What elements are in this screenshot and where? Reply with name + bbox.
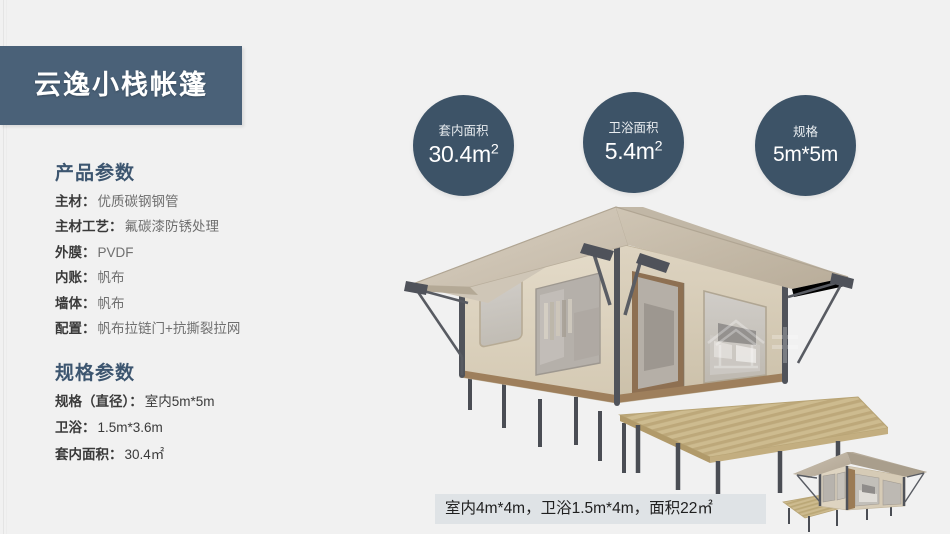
spec-value: 帆布拉链门+抗撕裂拉网 (98, 321, 241, 336)
badge-label: 规格 (793, 126, 818, 139)
spec-unit: ㎡ (151, 447, 165, 462)
spec-row: 墙体：帆布 (55, 297, 355, 311)
product-params-heading: 产品参数 (55, 163, 355, 186)
product-params-group: 产品参数 主材：优质碳钢钢管 主材工艺：氟碳漆防锈处理 外膜：PVDF 内账：帆… (55, 163, 355, 336)
badge-value-superscript: 2 (655, 139, 663, 155)
stat-badge-dimensions: 规格 5m*5m (755, 95, 856, 196)
spec-row: 主材工艺：氟碳漆防锈处理 (55, 220, 355, 234)
badge-value-text: 5m*5m (773, 143, 838, 166)
spec-row: 套内面积：30.4㎡ (55, 448, 355, 462)
spec-params-heading: 规格参数 (55, 363, 355, 386)
spec-value: 帆布 (98, 270, 125, 285)
spec-label: 墙体： (55, 296, 96, 311)
spec-label: 主材工艺： (55, 219, 123, 234)
tent-thumbnail-svg (775, 444, 943, 534)
badge-value-text: 30.4m (428, 141, 490, 167)
tent-thumbnail[interactable] (775, 444, 943, 534)
title-banner: 云逸小栈帐篷 (0, 46, 242, 125)
spec-label: 主材： (55, 194, 96, 209)
spec-label: 内账： (55, 270, 96, 285)
spec-row: 卫浴：1.5m*3.6m (55, 421, 355, 435)
spec-value: PVDF (98, 245, 134, 260)
spec-row: 配置：帆布拉链门+抗撕裂拉网 (55, 322, 355, 336)
badge-label: 卫浴面积 (608, 122, 658, 135)
specifications-panel: 产品参数 主材：优质碳钢钢管 主材工艺：氟碳漆防锈处理 外膜：PVDF 内账：帆… (55, 163, 355, 474)
badge-label: 套内面积 (438, 125, 488, 138)
spec-params-group: 规格参数 规格（直径）：室内5m*5m 卫浴：1.5m*3.6m 套内面积：30… (55, 363, 355, 461)
caption-bar: 室内4m*4m，卫浴1.5m*4m，面积22㎡ (435, 494, 766, 524)
caption-text: 室内4m*4m，卫浴1.5m*4m，面积22㎡ (445, 501, 713, 517)
spec-row: 规格（直径）：室内5m*5m (55, 395, 355, 409)
spec-label: 外膜： (55, 245, 96, 260)
page-title: 云逸小栈帐篷 (34, 72, 208, 99)
badge-value: 5.4m2 (605, 140, 663, 163)
badge-value: 5m*5m (773, 144, 838, 165)
spec-value: 30.4 (125, 447, 151, 462)
spec-value: 室内5m*5m (145, 394, 215, 409)
spec-row: 外膜：PVDF (55, 246, 355, 260)
spec-row: 主材：优质碳钢钢管 (55, 195, 355, 209)
stat-badge-interior-area: 套内面积 30.4m2 (413, 95, 514, 196)
badge-value-superscript: 2 (491, 142, 499, 158)
stat-badge-bathroom-area: 卫浴面积 5.4m2 (583, 92, 684, 193)
spec-value: 优质碳钢钢管 (98, 194, 179, 209)
spec-label: 卫浴： (55, 420, 96, 435)
spec-row: 内账：帆布 (55, 271, 355, 285)
spec-value: 1.5m*3.6m (98, 420, 163, 435)
spec-label: 规格（直径）： (55, 394, 143, 409)
spec-label: 配置： (55, 321, 96, 336)
spec-value: 帆布 (98, 296, 125, 311)
page-root: 云逸小栈帐篷 产品参数 主材：优质碳钢钢管 主材工艺：氟碳漆防锈处理 外膜：PV… (0, 0, 950, 534)
stat-badges: 套内面积 30.4m2 卫浴面积 5.4m2 规格 5m*5m (413, 92, 873, 196)
spec-label: 套内面积： (55, 447, 123, 462)
badge-value-text: 5.4m (605, 138, 655, 164)
badge-value: 30.4m2 (428, 143, 498, 166)
spec-value: 氟碳漆防锈处理 (125, 219, 220, 234)
